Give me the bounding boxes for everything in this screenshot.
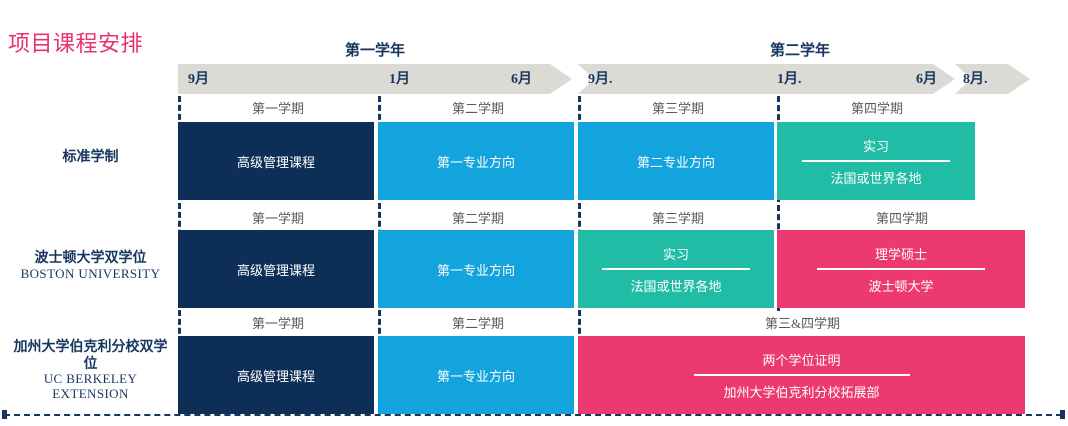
year-caption-1: 第一学年: [178, 41, 572, 61]
month-label-jan-y2: 1月.: [777, 64, 802, 94]
row-boston-block-4[interactable]: 理学硕士 波士顿大学: [777, 230, 1025, 308]
month-label-jun-y1: 6月: [511, 64, 532, 94]
bottom-dashed-rule: [4, 414, 1062, 416]
row-berkeley-block-1[interactable]: 高级管理课程: [178, 336, 374, 414]
row-label-standard: 标准学制: [8, 148, 173, 165]
bottom-rule-cap-right: [1060, 410, 1065, 419]
year-caption-2: 第二学年: [578, 41, 1022, 61]
row-berkeley-semester-2: 第二学期: [380, 313, 576, 335]
row-label-boston-en: BOSTON UNIVERSITY: [8, 266, 173, 281]
row-standard-block-3[interactable]: 第二专业方向: [578, 122, 774, 200]
row-boston-block-4-line1: 理学硕士: [875, 244, 927, 263]
row-berkeley-semester-3: 第三&四学期: [580, 313, 1025, 335]
row-standard-block-4[interactable]: 实习 法国或世界各地: [777, 122, 975, 200]
row-standard-semester-3: 第三学期: [580, 98, 776, 120]
row-standard-block-1[interactable]: 高级管理课程: [178, 122, 374, 200]
row-boston-block-2-line1: 第一专业方向: [437, 260, 515, 279]
row-boston-block-3-line1: 实习: [663, 244, 689, 263]
month-label-sep-y1: 9月: [188, 64, 209, 94]
row-standard-block-2[interactable]: 第一专业方向: [378, 122, 574, 200]
bottom-rule-cap-left: [2, 410, 7, 419]
month-label-jan-y1: 1月: [389, 64, 410, 94]
row-boston-block-1-line1: 高级管理课程: [237, 260, 315, 279]
diagram-canvas: 项目课程安排 第一学年 第二学年 9月 1月 6月 9月. 1月. 6月 8月.…: [0, 0, 1068, 426]
row-boston-semester-2: 第二学期: [380, 208, 576, 230]
row-standard-block-3-line1: 第二专业方向: [637, 152, 715, 171]
month-label-jun-y2: 6月: [916, 64, 937, 94]
row-berkeley-block-3-line1: 两个学位证明: [762, 350, 840, 369]
row-standard-semester-2: 第二学期: [380, 98, 576, 120]
row-berkeley-block-3-line2: 加州大学伯克利分校拓展部: [723, 382, 879, 401]
row-standard-block-2-line1: 第一专业方向: [437, 152, 515, 171]
row-berkeley-block-3[interactable]: 两个学位证明 加州大学伯克利分校拓展部: [578, 336, 1025, 414]
row-berkeley-block-2[interactable]: 第一专业方向: [378, 336, 574, 414]
row-standard-block-4-divider: [802, 160, 950, 162]
timeline-ribbon-year-2: [578, 64, 955, 94]
row-boston-semester-1: 第一学期: [180, 208, 376, 230]
row-berkeley-block-1-line1: 高级管理课程: [237, 366, 315, 385]
row-standard-semester-1: 第一学期: [180, 98, 376, 120]
row-standard-semester-4: 第四学期: [779, 98, 975, 120]
row-boston-block-3-divider: [602, 268, 750, 270]
row-berkeley-block-2-line1: 第一专业方向: [437, 366, 515, 385]
row-boston-block-1[interactable]: 高级管理课程: [178, 230, 374, 308]
month-label-sep-y2: 9月.: [588, 64, 613, 94]
row-boston-semester-3: 第三学期: [580, 208, 776, 230]
row-label-berkeley-en: UC BERKELEY EXTENSION: [8, 371, 173, 402]
row-boston-block-4-line2: 波士顿大学: [868, 276, 933, 295]
row-standard-block-4-line1: 实习: [863, 136, 889, 155]
row-berkeley-block-3-divider: [694, 374, 910, 376]
row-label-berkeley-cn: 加州大学伯克利分校双学位: [8, 338, 173, 371]
page-title: 项目课程安排: [8, 26, 143, 58]
row-boston-block-2[interactable]: 第一专业方向: [378, 230, 574, 308]
month-label-aug-y2: 8月.: [963, 64, 988, 94]
row-label-standard-cn: 标准学制: [8, 148, 173, 165]
row-standard-block-1-line1: 高级管理课程: [237, 152, 315, 171]
row-standard-block-4-line2: 法国或世界各地: [830, 168, 921, 187]
row-label-berkeley: 加州大学伯克利分校双学位 UC BERKELEY EXTENSION: [8, 338, 173, 402]
row-boston-block-4-divider: [817, 268, 985, 270]
row-boston-block-3[interactable]: 实习 法国或世界各地: [578, 230, 774, 308]
row-label-boston: 波士顿大学双学位 BOSTON UNIVERSITY: [8, 249, 173, 281]
row-boston-block-3-line2: 法国或世界各地: [630, 276, 721, 295]
row-berkeley-semester-1: 第一学期: [180, 313, 376, 335]
row-label-boston-cn: 波士顿大学双学位: [8, 249, 173, 266]
row-boston-semester-4: 第四学期: [779, 208, 1025, 230]
